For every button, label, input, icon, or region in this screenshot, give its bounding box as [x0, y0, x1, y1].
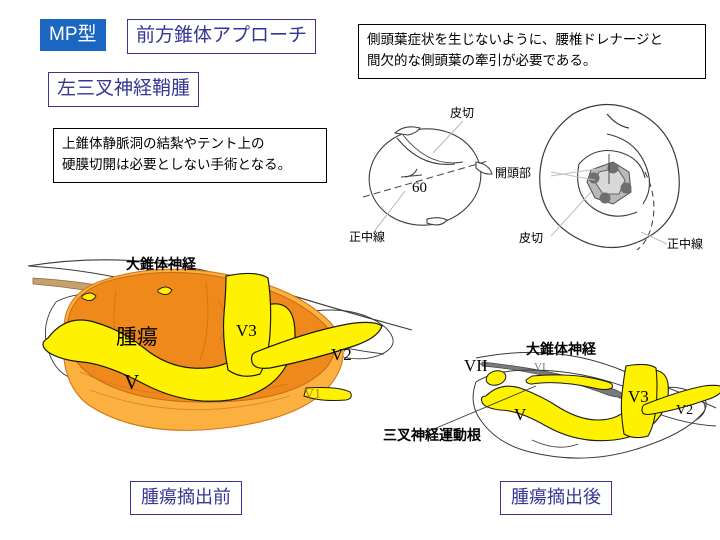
note-right-line-1: 側頭葉症状を生じないように、腰椎ドレナージと: [367, 30, 697, 51]
note-left-line-2: 硬膜切開は必要としない手術となる。: [62, 155, 318, 176]
caption-after: 腫瘍摘出後: [500, 481, 612, 515]
label-skin-incision-superior: 皮切: [519, 232, 543, 244]
slide-canvas: MP型 前方錐体アプローチ 左三叉神経鞘腫 上錐体静脈洞の結紮やテント上の 硬膜…: [0, 0, 720, 540]
label-nerve-v1-before: V1: [304, 388, 321, 402]
label-nerve-vi: VI: [534, 362, 546, 373]
anatomy-before-svg: [20, 240, 420, 470]
skull-outline: [363, 122, 487, 233]
approach-title: 前方錐体アプローチ: [127, 19, 316, 54]
cavity-outline-bottom: [532, 440, 578, 447]
note-box-left: 上錐体静脈洞の結紮やテント上の 硬膜切開は必要としない手術となる。: [53, 128, 327, 183]
skull-lobe-bottom: [427, 218, 447, 225]
label-midline-superior: 正中線: [667, 238, 703, 250]
label-nerve-v-before: V: [124, 372, 139, 393]
head-diagram-superior: 開頭部 皮切 正中線: [495, 110, 720, 260]
nerve-nub-left: [82, 293, 96, 301]
label-angle-60: 60: [412, 181, 427, 196]
nerve-vi-band: [526, 375, 613, 390]
burr-hole-4: [600, 193, 611, 204]
label-nerve-v2-before: V2: [331, 346, 352, 363]
label-nerve-v2-after: V2: [676, 404, 693, 418]
label-greater-petrosal-nerve-before: 大錐体神経: [126, 257, 196, 271]
note-left-line-1: 上錐体静脈洞の結紮やテント上の: [62, 134, 318, 155]
type-badge: MP型: [40, 19, 106, 51]
label-tumor: 腫瘍: [116, 327, 158, 348]
label-nerve-v3-before: V3: [236, 322, 257, 339]
label-nerve-v3-after: V3: [628, 388, 649, 405]
note-box-right: 側頭葉症状を生じないように、腰椎ドレナージと 間欠的な側頭葉の牽引が必要である。: [358, 24, 706, 79]
diagnosis-title: 左三叉神経鞘腫: [48, 72, 199, 107]
anatomy-before-tumor-removal: 大錐体神経 腫瘍 V V3 V2 V1: [20, 240, 420, 470]
label-skin-incision-lateral: 皮切: [450, 107, 474, 119]
burr-hole-3: [621, 183, 632, 194]
note-right-line-2: 間欠的な側頭葉の牽引が必要である。: [367, 51, 697, 72]
caption-before: 腫瘍摘出前: [130, 481, 242, 515]
label-greater-petrosal-nerve-after: 大錐体神経: [526, 342, 596, 356]
label-craniotomy: 開頭部: [495, 167, 531, 179]
label-nerve-v-after: V: [514, 406, 526, 423]
label-nerve-vii: VII: [464, 357, 488, 374]
burr-hole-1: [589, 173, 600, 184]
nerve-nub-mid: [158, 287, 172, 295]
label-motor-root: 三叉神経運動根: [383, 428, 481, 442]
anatomy-after-tumor-removal: 大錐体神経 VII VI V V3 V2 三叉神経運動根: [440, 330, 720, 460]
